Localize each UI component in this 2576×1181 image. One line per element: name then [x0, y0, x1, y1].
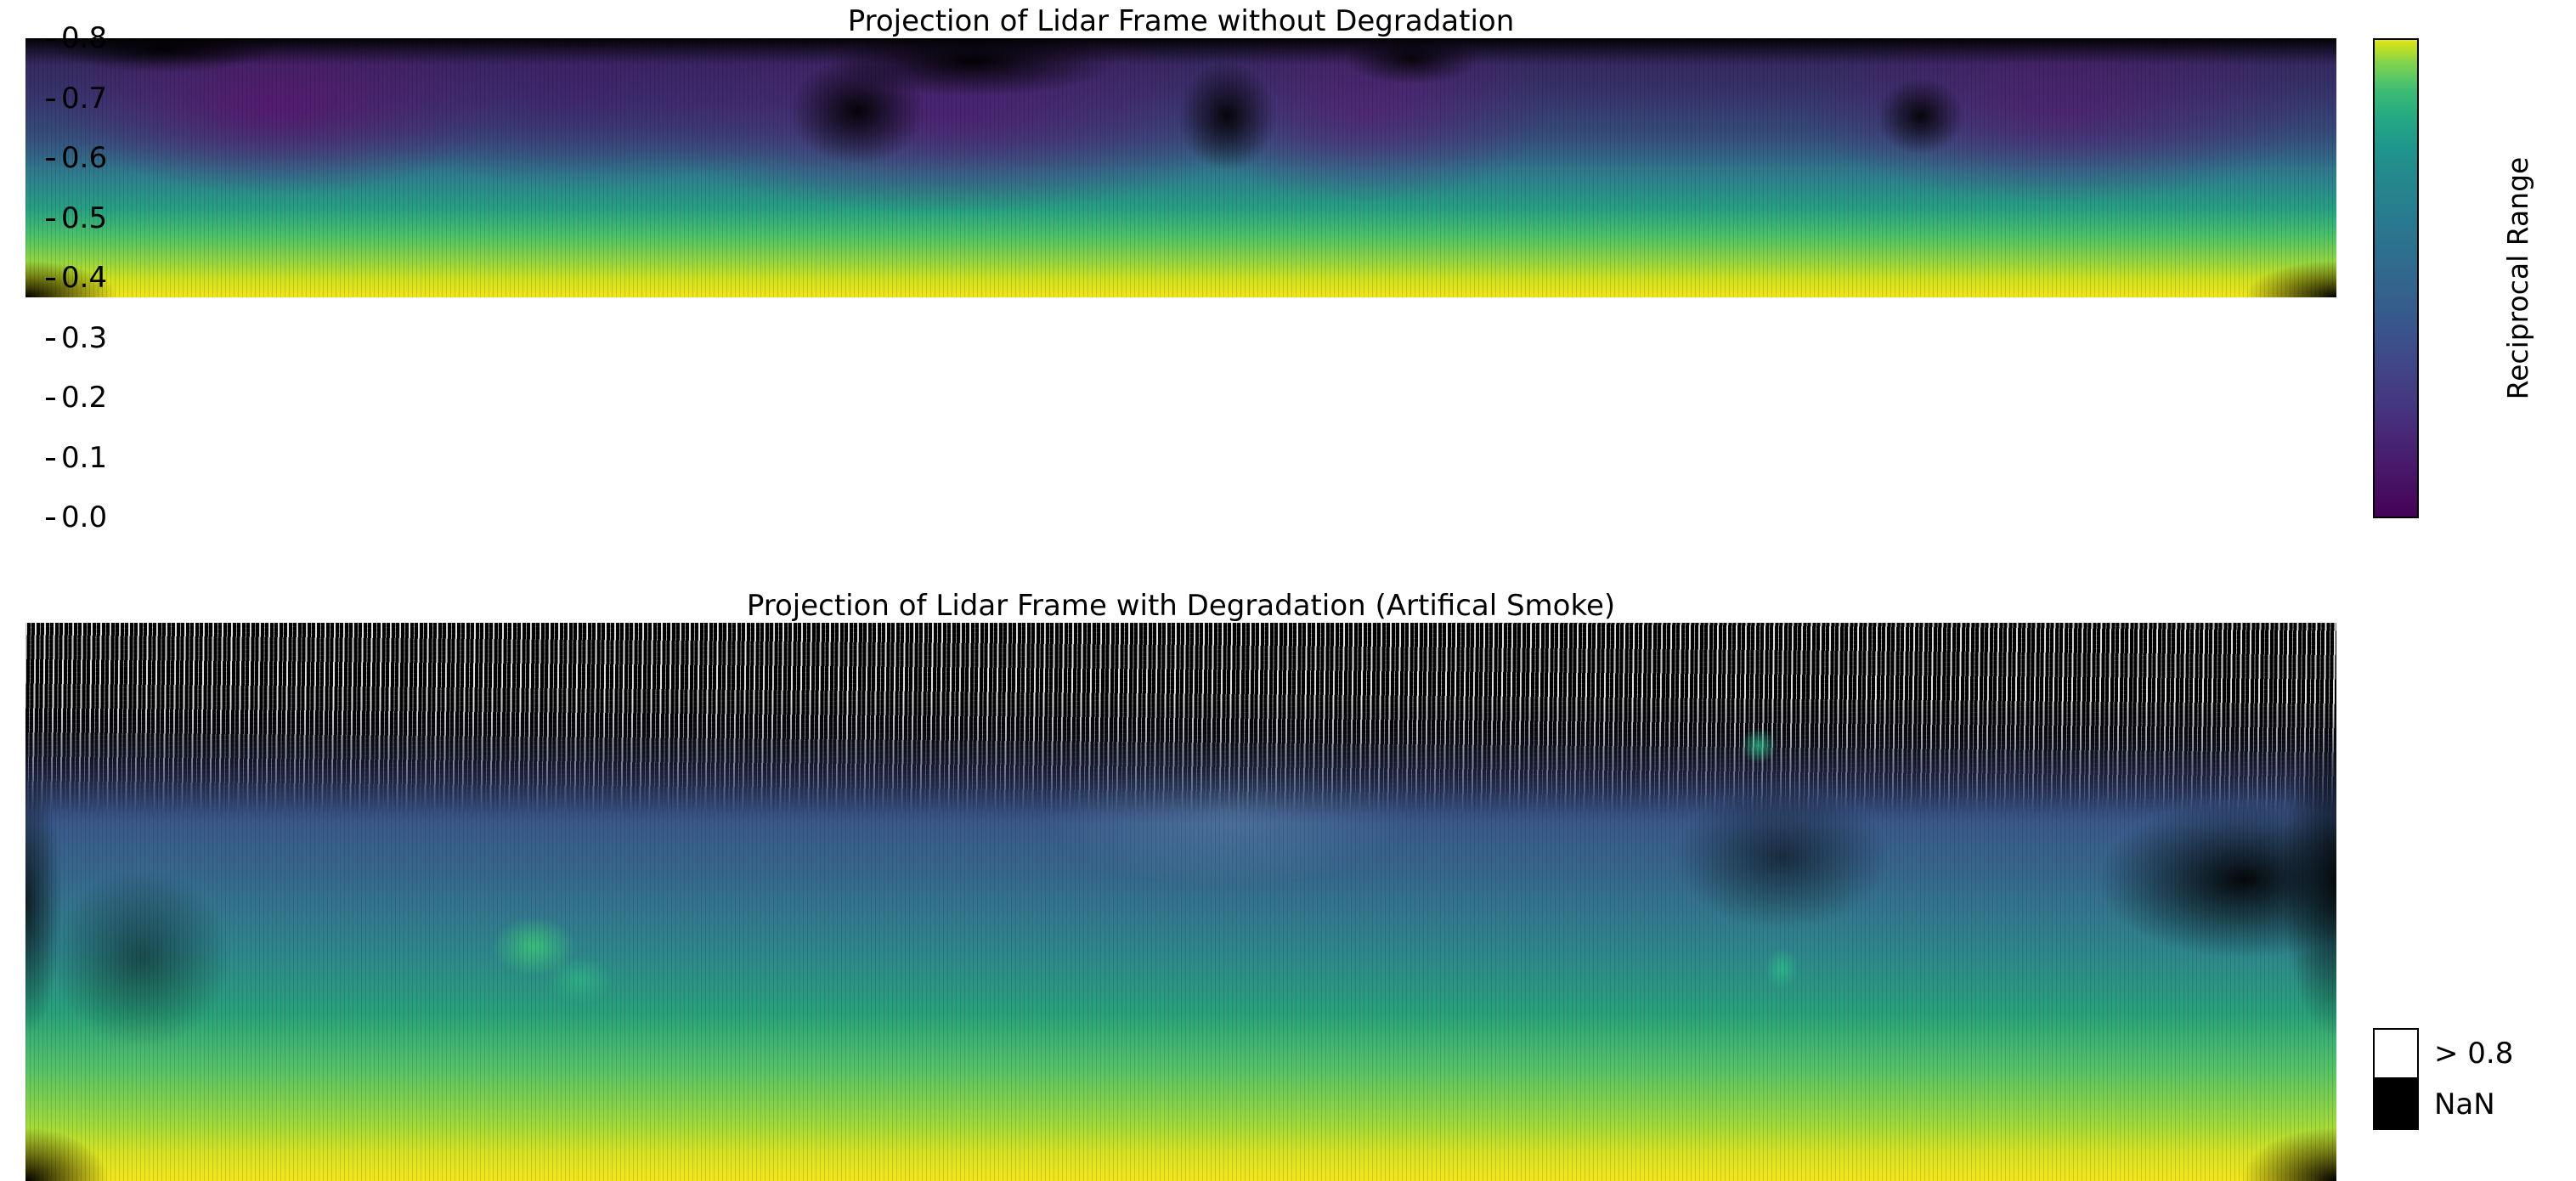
legend-swatch-nan [2373, 1079, 2419, 1130]
nan-corner-mask-bottom [25, 623, 2336, 1181]
legend-label-nan: NaN [2434, 1090, 2495, 1119]
nan-corner-mask-top [25, 38, 2336, 297]
colorbar-tick-1 [46, 99, 55, 101]
legend: > 0.8 NaN [2373, 1028, 2543, 1130]
colorbar-ticklabel-3: 0.5 [61, 204, 107, 233]
colorbar-ticklabel-1: 0.7 [61, 84, 107, 113]
colorbar-tick-3 [46, 218, 55, 221]
colorbar-ticklabel-0: 0.8 [61, 24, 107, 53]
colorbar-tick-7 [46, 458, 55, 461]
colorbar-tick-4 [46, 278, 55, 280]
panel-title-top: Projection of Lidar Frame without Degrad… [25, 7, 2336, 36]
colorbar-ticklabel-6: 0.2 [61, 383, 107, 412]
legend-item-over: > 0.8 [2373, 1028, 2543, 1079]
colorbar-ticklabel-7: 0.1 [61, 444, 107, 472]
heatmap-panel-top [25, 38, 2336, 297]
legend-item-nan: NaN [2373, 1079, 2543, 1130]
colorbar-ticklabel-8: 0.0 [61, 503, 107, 532]
heatmap-panel-bottom [25, 623, 2336, 1181]
colorbar-ticklabel-5: 0.3 [61, 324, 107, 353]
colorbar-gradient [2373, 38, 2419, 518]
figure-canvas: Projection of Lidar Frame without Degrad… [0, 0, 2576, 1181]
colorbar-tick-8 [46, 517, 55, 520]
colorbar-ticklabel-2: 0.6 [61, 144, 107, 172]
colorbar-tick-6 [46, 398, 55, 400]
legend-label-over: > 0.8 [2434, 1039, 2513, 1068]
colorbar-tick-0 [46, 38, 55, 41]
colorbar[interactable] [2373, 38, 2419, 518]
colorbar-tick-5 [46, 338, 55, 341]
colorbar-axis-label: Reciprocal Range [2501, 38, 2535, 518]
legend-swatch-over [2373, 1028, 2419, 1079]
colorbar-ticklabel-4: 0.4 [61, 263, 107, 292]
colorbar-tick-2 [46, 158, 55, 161]
panel-title-bottom: Projection of Lidar Frame with Degradati… [25, 591, 2336, 620]
